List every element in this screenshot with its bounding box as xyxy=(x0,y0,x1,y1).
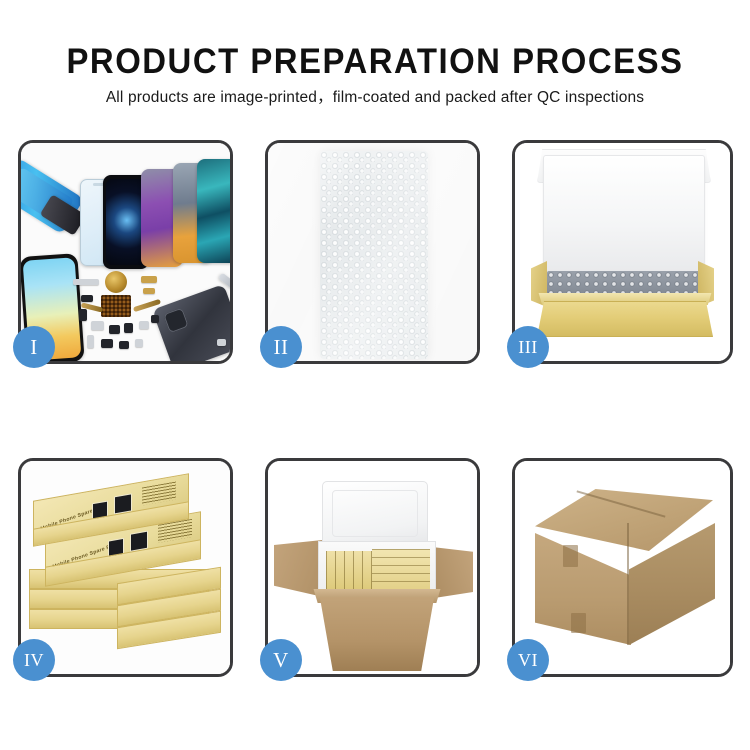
process-step-card-4[interactable]: Mobile Phone Spare Parts Mobile Phone Sp… xyxy=(18,458,233,677)
small-part-icon xyxy=(87,335,94,348)
small-part-icon xyxy=(81,295,93,302)
process-step-grid: I II xyxy=(0,0,750,750)
carton-corner-seam-icon xyxy=(627,523,629,645)
carton-body-icon xyxy=(312,597,442,671)
process-step-card-6[interactable]: VI xyxy=(512,458,733,677)
step-badge-6: VI xyxy=(507,639,549,681)
foam-sheet-icon xyxy=(543,155,705,273)
step-badge-1: I xyxy=(13,326,55,368)
process-step-card-5[interactable]: V xyxy=(265,458,480,677)
sealed-carton-scene xyxy=(515,461,730,674)
stacked-retail-boxes-photo: Mobile Phone Spare Parts Mobile Phone Sp… xyxy=(21,461,230,674)
teal-wave-phone-icon xyxy=(197,159,230,263)
bubble-wrap-bag-icon xyxy=(320,151,428,359)
small-part-icon xyxy=(79,309,87,321)
carton-with-cooler-scene xyxy=(268,461,477,674)
phone-back-housing-icon xyxy=(152,284,230,361)
small-part-icon xyxy=(73,279,99,285)
small-part-icon xyxy=(135,339,143,347)
kraft-inner-box-scene xyxy=(515,143,730,361)
small-part-icon xyxy=(143,288,155,294)
small-part-icon xyxy=(217,339,226,346)
small-part-icon xyxy=(141,276,157,283)
step-badge-2: II xyxy=(260,326,302,368)
box-stack-scene: Mobile Phone Spare Parts Mobile Phone Sp… xyxy=(21,461,230,674)
bubble-wrap-scene xyxy=(268,143,477,361)
sealed-shipping-carton-photo xyxy=(515,461,730,674)
speaker-coil-icon xyxy=(105,271,127,293)
step-badge-4: IV xyxy=(13,639,55,681)
carton-tape-icon xyxy=(563,545,578,567)
small-part-icon xyxy=(151,315,159,323)
foam-cooler-lid-icon xyxy=(322,481,428,547)
product-collage-photo xyxy=(21,143,230,361)
small-part-icon xyxy=(109,325,120,334)
process-step-card-1[interactable]: I xyxy=(18,140,233,364)
bubble-wrapped-screen-photo xyxy=(268,143,477,361)
inner-box-with-foam-photo xyxy=(515,143,730,361)
step-badge-5: V xyxy=(260,639,302,681)
process-step-card-2[interactable]: II xyxy=(265,140,480,364)
phone-parts-collage xyxy=(21,143,230,361)
process-step-card-3[interactable]: III xyxy=(512,140,733,364)
box-spec-lines xyxy=(142,482,176,506)
small-part-icon xyxy=(101,339,113,348)
small-part-icon xyxy=(91,321,104,330)
yellow-boxes-stack-icon xyxy=(372,549,430,593)
small-part-icon xyxy=(124,323,133,333)
step-badge-3: III xyxy=(507,326,549,368)
carton-tape-icon xyxy=(571,613,586,633)
box-front-panel-icon xyxy=(537,301,713,337)
contact-pad-grid-icon xyxy=(101,295,131,317)
small-part-icon xyxy=(119,341,129,349)
small-part-icon xyxy=(139,321,149,329)
foam-cooler-in-carton-photo xyxy=(268,461,477,674)
